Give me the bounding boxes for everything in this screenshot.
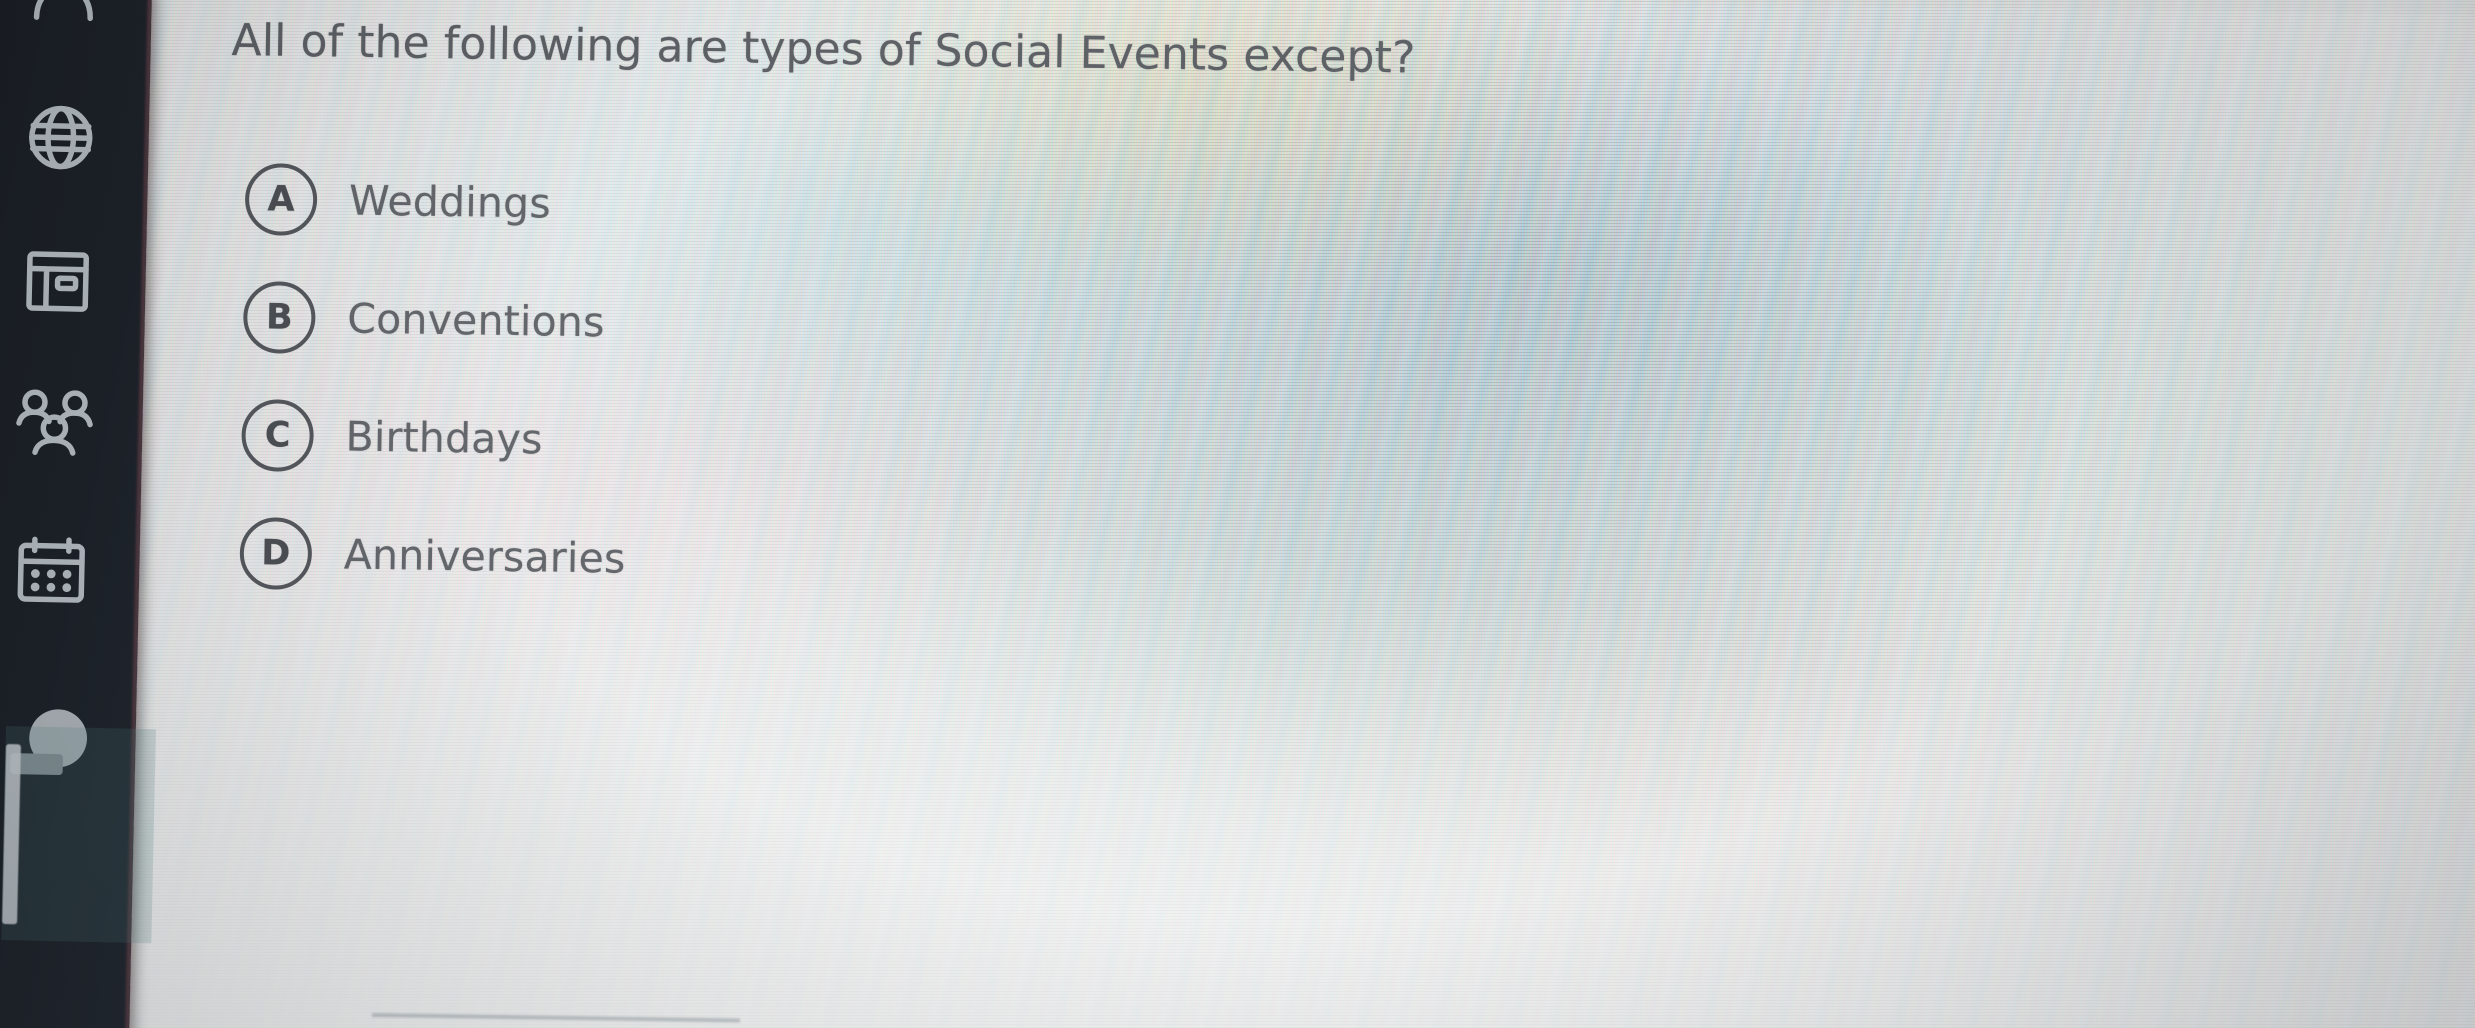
sidebar-item-calendar[interactable] bbox=[0, 518, 110, 625]
sidebar-item-community[interactable] bbox=[0, 368, 114, 475]
option-label-a[interactable]: Weddings bbox=[349, 177, 551, 228]
option-badge-b[interactable]: B bbox=[243, 281, 316, 354]
people-icon bbox=[14, 381, 96, 463]
sidebar-item-dashboard[interactable] bbox=[0, 228, 117, 335]
options-list[interactable]: A Weddings B Conventions C Birthdays D A… bbox=[239, 140, 632, 618]
option-label-d[interactable]: Anniversaries bbox=[344, 531, 626, 583]
option-label-b[interactable]: Conventions bbox=[347, 295, 605, 347]
option-badge-a[interactable]: A bbox=[245, 163, 318, 236]
option-row-a[interactable]: A Weddings bbox=[244, 140, 631, 264]
photographed-screen: All of the following are types of Social… bbox=[0, 0, 2475, 1028]
globe-icon bbox=[23, 100, 99, 176]
option-row-c[interactable]: C Birthdays bbox=[241, 376, 628, 500]
user-icon bbox=[24, 0, 104, 23]
option-label-c[interactable]: Birthdays bbox=[345, 413, 543, 464]
option-badge-c[interactable]: C bbox=[241, 399, 314, 472]
layout-icon bbox=[21, 245, 95, 319]
option-badge-d[interactable]: D bbox=[239, 517, 312, 590]
option-row-b[interactable]: B Conventions bbox=[242, 258, 629, 382]
calendar-icon bbox=[11, 534, 91, 610]
sidebar-item-explore[interactable] bbox=[2, 84, 120, 191]
option-row-d[interactable]: D Anniversaries bbox=[239, 494, 626, 618]
sidebar-active-tint bbox=[1, 726, 156, 943]
sidebar-item-profile[interactable] bbox=[5, 0, 123, 37]
